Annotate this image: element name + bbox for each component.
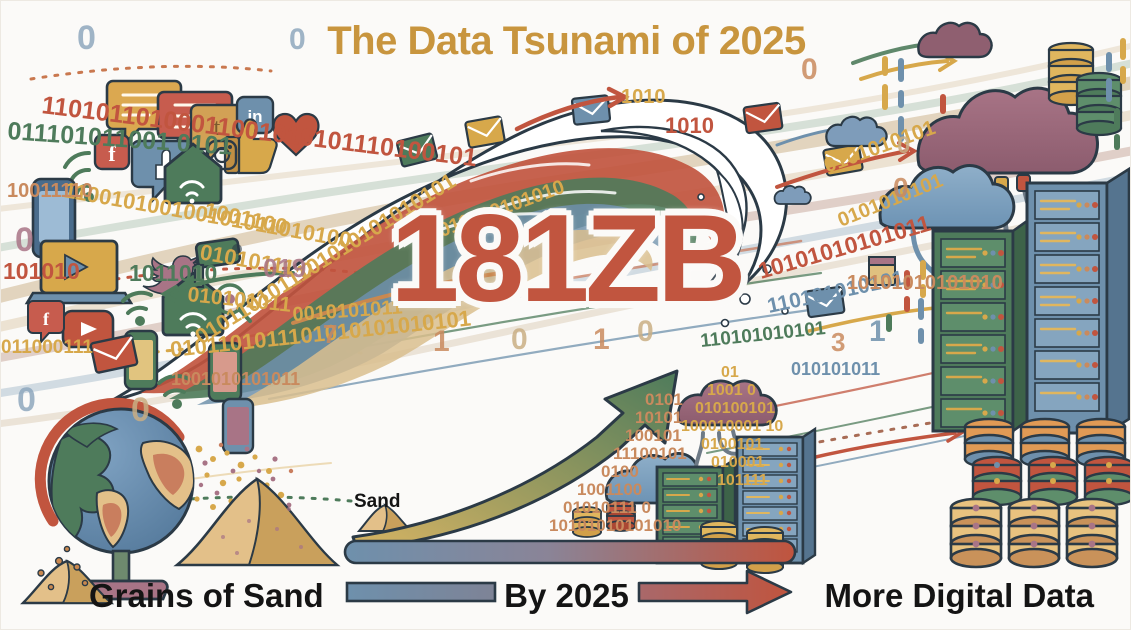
binary-digit: 1 [869,315,886,348]
binary-string: 1010 [621,86,666,108]
binary-string: 10011110 [7,180,93,202]
binary-string: 0101010101 [821,116,939,178]
binary-string: 101111 [717,472,768,489]
binary-digit: 0 [131,391,150,429]
page-title: The Data Tsunami of 2025 [1,19,1131,64]
binary-digit: 1 [593,323,610,356]
binary-string: 1010 [665,113,714,138]
binary-string: 100101 [625,426,682,445]
binary-string: 10101010101010 [847,272,1003,294]
infographic-poster: t in f [0,0,1131,630]
binary-string: 11100101 [613,444,687,463]
binary-digit: 0 [17,381,36,419]
binary-string: 110101010101 [699,318,827,352]
sand-baseline-label: Sand [354,491,400,513]
binary-string: 01010111 0 [563,498,651,517]
binary-string: 10101 [635,408,682,427]
binary-string: 010100101 [695,400,775,417]
binary-string: 010001 [711,454,764,471]
binary-string: 0101 [645,390,683,409]
binary-digit: 0 [15,221,34,259]
binary-digit: 019 [263,253,306,283]
binary-digit: 3 [831,327,845,357]
binary-string: 100010001 10 [681,418,783,435]
binary-string: 01 [721,364,739,381]
binary-digit: 7 [323,319,337,349]
binary-digit: 0 [893,172,909,203]
binary-string: 011000111 [1,337,93,358]
binary-digit: 0 [511,323,528,356]
binary-string: 1001010101011 [171,369,300,389]
binary-string: 1001 0 [707,382,756,399]
binary-text-overlay: 11010110100011001010101110100101 0111010… [1,1,1131,630]
binary-digit: 0 [897,132,910,159]
binary-string: 1001100 [577,480,642,499]
right-category-label: More Digital Data [824,577,1094,615]
binary-digit: 1 [433,325,450,358]
binary-digit: 0 [637,315,654,348]
binary-string: 10101010101010 [549,516,681,535]
binary-string: 0100 [601,462,639,481]
binary-string: 010101011 [791,359,880,379]
binary-string: 0100101 [701,436,763,453]
binary-string: 101010 [3,258,80,284]
